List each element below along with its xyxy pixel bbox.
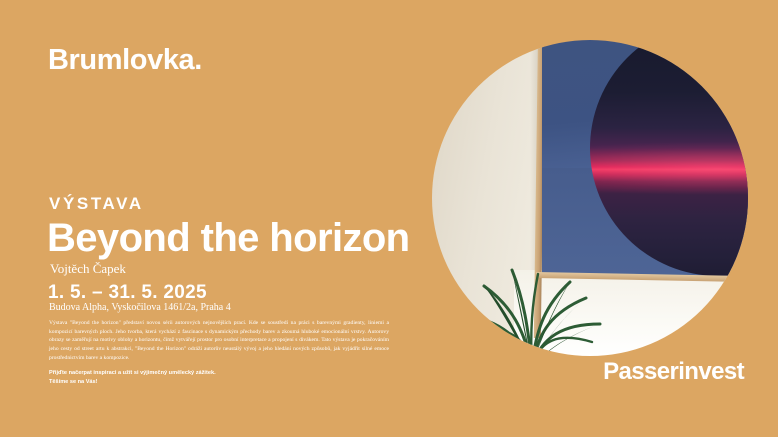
closing-line-2: Těšíme se na Vás! — [49, 378, 329, 387]
exhibition-author: Vojtěch Čapek — [50, 262, 126, 275]
interior-wall-bottom — [514, 270, 748, 356]
exhibition-address: Budova Alpha, Vyskočilova 1461/2a, Praha… — [49, 303, 231, 313]
exhibition-closing-block: Přijďte načerpat inspiraci a užít si výj… — [49, 369, 329, 387]
brumlovka-logo: Brumlovka. — [48, 46, 202, 75]
painting-lower-field — [542, 168, 748, 276]
painting-horizon-glow — [590, 40, 748, 276]
exhibition-dates: 1. 5. – 31. 5. 2025 — [48, 283, 207, 302]
painting-frame-bottom-edge — [536, 272, 748, 283]
exhibition-eyebrow-label: VÝSTAVA — [49, 195, 144, 212]
potted-plant-icon — [454, 220, 614, 356]
artwork-photo-inner — [432, 40, 748, 356]
artwork-photo-circle — [432, 40, 748, 356]
poster-canvas: Brumlovka. — [0, 0, 778, 437]
exhibition-description: Výstava "Beyond the horizon" představí n… — [49, 319, 389, 362]
exhibition-title: Beyond the horizon — [47, 217, 410, 259]
interior-wall-left — [432, 40, 544, 356]
painting-canvas — [542, 40, 748, 276]
closing-line-1: Přijďte načerpat inspiraci a užít si výj… — [49, 369, 329, 378]
painting-frame-left-edge — [534, 40, 545, 338]
passerinvest-logo: Passerinvest — [603, 360, 744, 384]
painting-gradient-orb — [590, 40, 748, 276]
